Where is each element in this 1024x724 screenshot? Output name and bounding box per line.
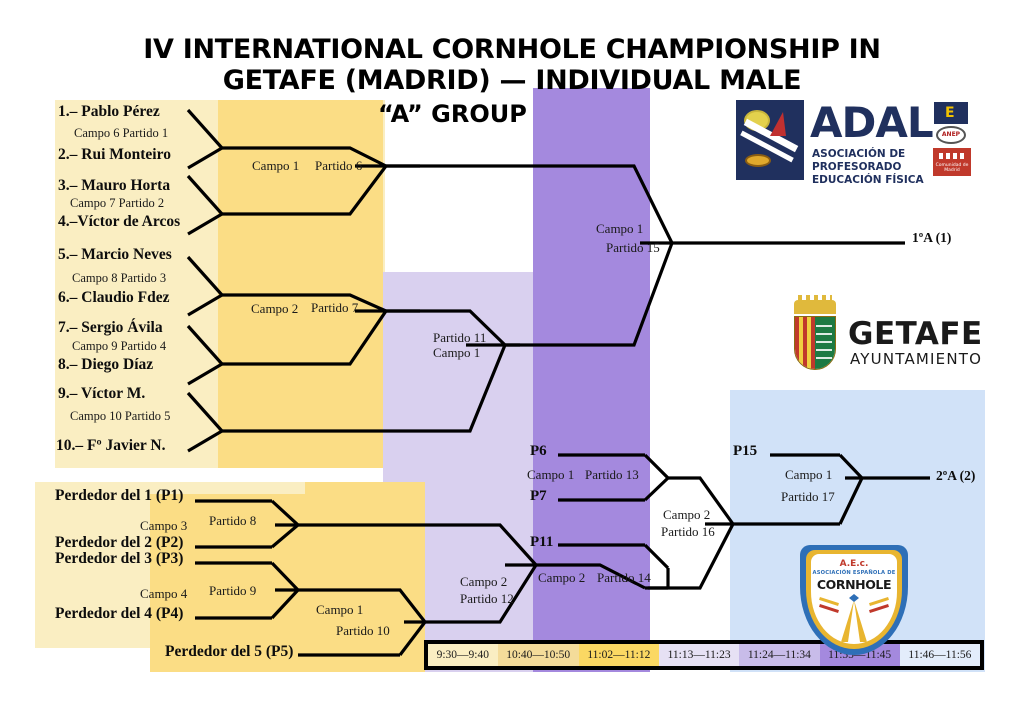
match-7-partido: Partido 7 <box>311 300 358 316</box>
player-5-name: 5.– Marcio Neves <box>58 246 172 264</box>
adal-emblem-icon <box>736 100 804 180</box>
match-14-partido: Partido 14 <box>597 570 651 586</box>
match-8-campo: Campo 3 <box>140 518 187 534</box>
player-2-name: 2.– Rui Monteiro <box>58 146 171 164</box>
player-1-meta: Campo 6 Partido 1 <box>74 126 168 141</box>
match-11-campo: Campo 1 <box>433 345 480 361</box>
result-first-place: 1ºA (1) <box>912 230 951 246</box>
seed-p7: P7 <box>530 488 547 505</box>
match-9-partido: Partido 9 <box>209 583 256 599</box>
result-second-place: 2ºA (2) <box>936 468 975 484</box>
legend-slot-3: 11:02—11:12 <box>579 644 659 666</box>
getafe-subtitle: AYUNTAMIENTO <box>850 350 982 368</box>
legend-slot-7: 11:46—11:56 <box>900 644 980 666</box>
certification-seal-text: ANEP <box>938 128 964 142</box>
player-9-name: 9.– Víctor M. <box>58 385 145 403</box>
adal-logo: ADAL ASOCIACIÓN DE PROFESORADO EDUCACIÓN… <box>736 100 986 188</box>
getafe-logo: GETAFE AYUNTAMIENTO <box>770 300 980 380</box>
match-14-campo: Campo 2 <box>538 570 585 586</box>
legend-slot-2: 10:40—10:50 <box>498 644 579 666</box>
comunidad-madrid-text: Comunidad de Madrid <box>933 163 971 173</box>
player-5-meta: Campo 8 Partido 3 <box>72 271 166 286</box>
match-10-campo: Campo 1 <box>316 602 363 618</box>
player-7-meta: Campo 9 Partido 4 <box>72 339 166 354</box>
aec-wordmark: CORNHOLE <box>811 577 897 592</box>
legend-slot-1: 9:30—9:40 <box>428 644 498 666</box>
match-12-partido: Partido 12 <box>460 591 514 607</box>
getafe-shield-icon <box>794 316 836 370</box>
match-7-campo: Campo 2 <box>251 301 298 317</box>
player-9-meta: Campo 10 Partido 5 <box>70 409 170 424</box>
seed-p6: P6 <box>530 443 547 460</box>
seed-p15: P15 <box>733 443 757 460</box>
player-8-name: 8.– Diego Díaz <box>58 356 153 374</box>
bracket-canvas: IV INTERNATIONAL CORNHOLE CHAMPIONSHIP I… <box>0 0 1024 724</box>
comunidad-madrid-icon: Comunidad de Madrid <box>933 148 971 176</box>
match-17-campo: Campo 1 <box>785 467 832 483</box>
match-6-partido: Partido 6 <box>315 158 362 174</box>
match-11-partido: Partido 11 <box>433 330 486 346</box>
player-10-name: 10.– Fº Javier N. <box>56 437 165 455</box>
match-16-campo: Campo 2 <box>663 507 710 523</box>
certification-seal-icon: ANEP <box>936 126 966 144</box>
aec-cornhole-logo: A.E.c. ASOCIACIÓN ESPAÑOLA DE CORNHOLE <box>800 545 908 655</box>
match-12-campo: Campo 2 <box>460 574 507 590</box>
eu-letter: E <box>945 105 955 121</box>
match-15-partido: Partido 15 <box>606 240 660 256</box>
match-6-campo: Campo 1 <box>252 158 299 174</box>
loser-3-name: Perdedor del 3 (P3) <box>55 550 183 568</box>
match-13-campo: Campo 1 <box>527 467 574 483</box>
aec-initials: A.E.c. <box>811 559 897 569</box>
eu-flag-icon: E <box>934 102 968 124</box>
seed-p11: P11 <box>530 534 553 551</box>
match-16-partido: Partido 16 <box>661 524 715 540</box>
player-4-name: 4.–Víctor de Arcos <box>58 213 180 231</box>
match-9-campo: Campo 4 <box>140 586 187 602</box>
adal-wordmark: ADAL <box>810 98 933 147</box>
getafe-wordmark: GETAFE <box>848 316 983 352</box>
match-17-partido: Partido 17 <box>781 489 835 505</box>
player-7-name: 7.– Sergio Ávila <box>58 319 163 337</box>
loser-1-name: Perdedor del 1 (P1) <box>55 487 183 505</box>
crown-icon <box>794 300 836 314</box>
match-10-partido: Partido 10 <box>336 623 390 639</box>
player-3-name: 3.– Mauro Horta <box>58 177 170 195</box>
aec-association-line: ASOCIACIÓN ESPAÑOLA DE <box>811 570 897 576</box>
match-15-campo: Campo 1 <box>596 221 643 237</box>
match-13-partido: Partido 13 <box>585 467 639 483</box>
match-8-partido: Partido 8 <box>209 513 256 529</box>
player-3-meta: Campo 7 Partido 2 <box>70 196 164 211</box>
player-1-name: 1.– Pablo Pérez <box>58 103 160 121</box>
legend-slot-4: 11:13—11:23 <box>659 644 739 666</box>
player-6-name: 6.– Claudio Fdez <box>58 289 170 307</box>
loser-5-name: Perdedor del 5 (P5) <box>165 643 293 661</box>
loser-4-name: Perdedor del 4 (P4) <box>55 605 183 623</box>
